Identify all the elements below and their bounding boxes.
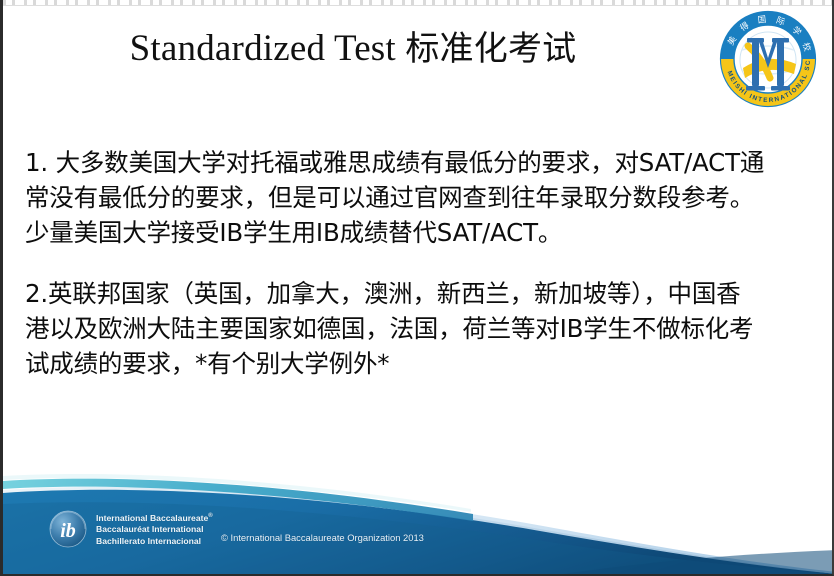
- paragraph-1-line-2: 常没有最低分的要求，但是可以通过官网查到往年录取分数段参考。: [25, 180, 819, 215]
- paragraph-2-line-3: 试成绩的要求，*有个别大学例外*: [25, 346, 819, 381]
- paragraph-2: 2.英联邦国家（英国，加拿大，澳洲，新西兰，新加坡等），中国香 港以及欧洲大陆主…: [25, 276, 819, 381]
- page-title-latin: Standardized Test: [130, 28, 406, 69]
- svg-text:ib: ib: [60, 520, 76, 542]
- presentation-slide: Standardized Test 标准化考试: [0, 0, 834, 576]
- paragraph-1: 1. 大多数美国大学对托福或雅思成绩有最低分的要求，对SAT/ACT通 常没有最…: [25, 145, 819, 250]
- paragraph-1-line-3: 少量美国大学接受IB学生用IB成绩替代SAT/ACT。: [25, 215, 819, 250]
- title-row: Standardized Test 标准化考试: [3, 22, 834, 100]
- paragraph-1-line-1: 1. 大多数美国大学对托福或雅思成绩有最低分的要求，对SAT/ACT通: [25, 145, 819, 180]
- paragraph-2-line-1: 2.英联邦国家（英国，加拿大，澳洲，新西兰，新加坡等），中国香: [25, 276, 819, 311]
- ib-logo-block: ib International Baccalaureate® Baccalau…: [49, 510, 213, 548]
- scan-artifact-line: [3, 5, 832, 6]
- ib-name-english: International Baccalaureate®: [96, 511, 213, 524]
- ib-name-french: Baccalauréat International: [96, 524, 213, 535]
- footer-wave-band: ib International Baccalaureate® Baccalau…: [3, 464, 834, 574]
- ib-organization-names: International Baccalaureate® Baccalauréa…: [96, 511, 213, 547]
- ib-name-spanish: Bachillerato Internacional: [96, 536, 213, 547]
- paragraph-2-line-2: 港以及欧洲大陆主要国家如德国，法国，荷兰等对IB学生不做标化考: [25, 311, 819, 346]
- page-title-chinese: 标准化考试: [405, 29, 576, 69]
- page-title: Standardized Test 标准化考试: [3, 22, 703, 76]
- ib-roundel-icon: ib: [49, 510, 87, 548]
- slide-body: 1. 大多数美国大学对托福或雅思成绩有最低分的要求，对SAT/ACT通 常没有最…: [25, 145, 819, 381]
- school-seal-logo: 美 得 国 际 学 校 MEISHI INTERNATIONAL SCHOOL: [712, 2, 824, 114]
- copyright-notice: © International Baccalaureate Organizati…: [221, 532, 424, 544]
- trademark-symbol: ®: [208, 513, 212, 519]
